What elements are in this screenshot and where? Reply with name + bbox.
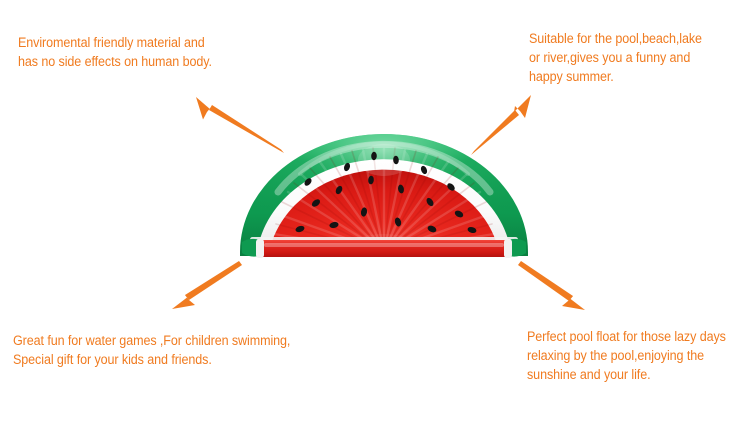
arrow-down-right-icon <box>518 261 585 310</box>
watermelon-float-infographic: Enviromental friendly material and has n… <box>0 0 750 434</box>
watermelon-pool-float-image <box>238 130 530 260</box>
watermelon-base <box>242 237 526 258</box>
callout-text-bottom-left: Great fun for water games ,For children … <box>13 331 334 369</box>
callout-text-bottom-right: Perfect pool float for those lazy days r… <box>527 327 741 384</box>
callout-text-top-left: Enviromental friendly material and has n… <box>18 33 278 71</box>
arrow-down-left-icon <box>172 261 242 309</box>
callout-text-top-right: Suitable for the pool,beach,lake or rive… <box>529 29 738 86</box>
